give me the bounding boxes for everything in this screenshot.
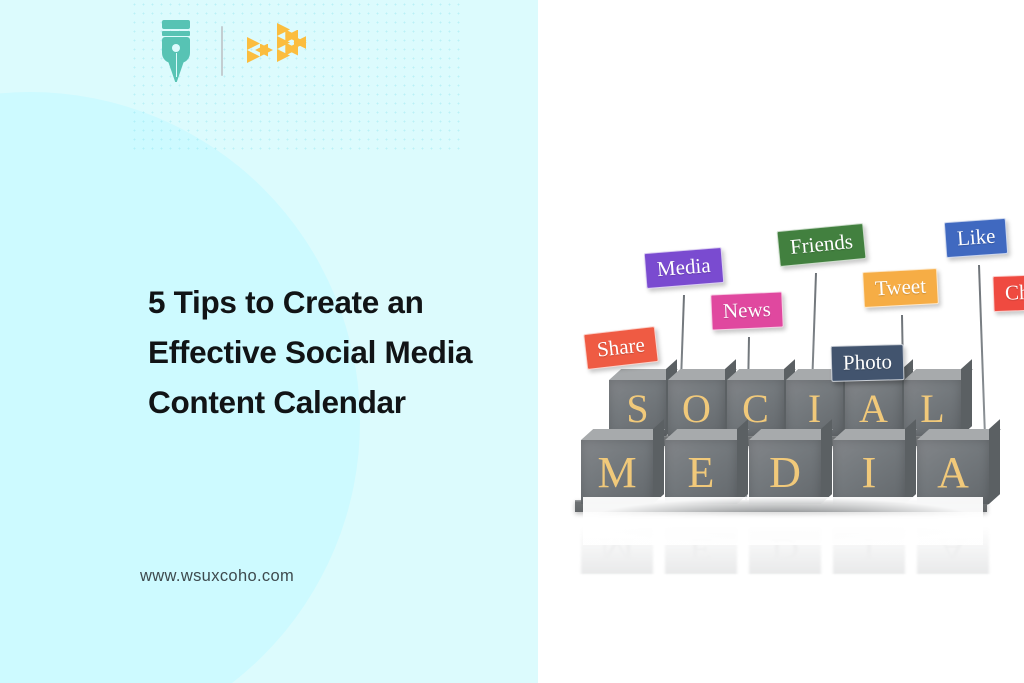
vertical-divider <box>221 26 223 76</box>
letter-block-reflection: A <box>917 526 989 574</box>
brand-logo-row[interactable] <box>155 20 327 82</box>
sign-like[interactable]: Like <box>944 218 1009 258</box>
letter-block-e-bottom: E <box>665 440 737 504</box>
headline-line-3: Content Calendar <box>148 377 528 427</box>
letter-glyph: I <box>833 440 905 504</box>
headline-line-2: Effective Social Media <box>148 327 528 377</box>
letter-glyph: D <box>749 440 821 504</box>
letter-block-c-top: C <box>727 380 784 436</box>
letter-block-i-bottom: I <box>833 440 905 504</box>
letter-glyph: I <box>786 380 843 436</box>
site-url[interactable]: www.wsuxcoho.com <box>140 567 294 586</box>
sign-news[interactable]: News <box>710 291 783 330</box>
logo-triangle <box>247 37 260 50</box>
pen-nib-icon <box>155 20 197 82</box>
logo-triangle <box>247 50 260 63</box>
left-text-panel: 5 Tips to Create an Effective Social Med… <box>0 0 538 683</box>
illustration-panel: SOCIALMMEEDDIIAA ShareMediaNewsFriendsPh… <box>538 0 1024 683</box>
letter-block-m-bottom: M <box>581 440 653 504</box>
letter-block-a-top: A <box>845 380 902 436</box>
triangular-play-logo-icon <box>247 21 327 81</box>
letter-glyph: C <box>727 380 784 436</box>
letter-glyph: A <box>845 380 902 436</box>
letter-glyph: A <box>917 440 989 504</box>
social-media-blocks-illustration: SOCIALMMEEDDIIAA ShareMediaNewsFriendsPh… <box>563 225 1003 545</box>
letter-glyph: E <box>665 440 737 504</box>
page-title: 5 Tips to Create an Effective Social Med… <box>148 277 528 427</box>
letter-block-reflection: I <box>833 526 905 574</box>
sign-tweet[interactable]: Tweet <box>862 268 939 308</box>
letter-glyph: O <box>668 380 725 436</box>
letter-block-reflection: M <box>581 526 653 574</box>
headline-line-1: 5 Tips to Create an <box>148 277 528 327</box>
letter-block-d-bottom: D <box>749 440 821 504</box>
letter-block-reflection: D <box>749 526 821 574</box>
letter-block-o-top: O <box>668 380 725 436</box>
poster-canvas: 5 Tips to Create an Effective Social Med… <box>0 0 1024 683</box>
letter-block-reflection: E <box>665 526 737 574</box>
letter-block-i-top: I <box>786 380 843 436</box>
letter-block-a-bottom: A <box>917 440 989 504</box>
letter-glyph: M <box>581 440 653 504</box>
sign-photo[interactable]: Photo <box>831 344 905 382</box>
sign-chat[interactable]: Chat <box>992 274 1024 312</box>
sign-media[interactable]: Media <box>644 247 724 289</box>
